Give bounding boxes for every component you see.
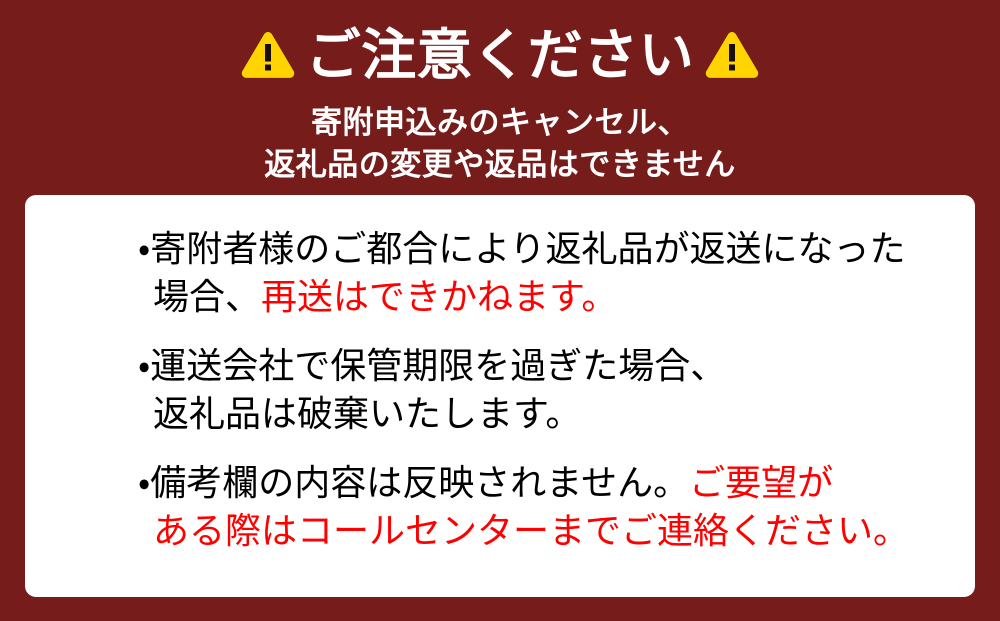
page-title: ご注意ください bbox=[306, 28, 695, 83]
notice-text-black: 運送会社で保管期限を過ぎた場合、 bbox=[150, 345, 726, 386]
list-item: ・寄附者様のご都合により返礼品が返送になった 場合、再送はできかねます。 bbox=[138, 225, 975, 320]
notice-line-secondary: 場合、再送はできかねます。 bbox=[138, 273, 975, 321]
headline-row: ご注意ください bbox=[0, 18, 1000, 92]
notice-text-black: 寄附者様のご都合により返礼品が返送になった bbox=[150, 228, 905, 269]
bullet-icon: ・ bbox=[138, 345, 150, 386]
notice-list: ・寄附者様のご都合により返礼品が返送になった 場合、再送はできかねます。 ・運送… bbox=[138, 225, 975, 554]
page-subtitle: 寄附申込みのキャンセル、 返礼品の変更や返品はできません bbox=[0, 102, 1000, 186]
notice-header: ご注意ください 寄附申込みのキャンセル、 返礼品の変更や返品はできません bbox=[0, 0, 1000, 186]
warning-triangle-icon bbox=[240, 30, 296, 80]
notice-text-black: 返礼品は破棄いたします。 bbox=[153, 393, 581, 434]
page-subtitle-line-2: 返礼品の変更や返品はできません bbox=[0, 144, 1000, 186]
notice-text-highlight: ある際はコールセンターまでご連絡ください。 bbox=[153, 510, 909, 551]
notice-text-black: 場合、 bbox=[153, 276, 261, 317]
notice-banner: ご注意ください 寄附申込みのキャンセル、 返礼品の変更や返品はできません ・寄附… bbox=[0, 0, 1000, 621]
list-item: ・運送会社で保管期限を過ぎた場合、 返礼品は破棄いたします。 bbox=[138, 342, 975, 437]
notice-line-primary: ・寄附者様のご都合により返礼品が返送になった bbox=[138, 225, 975, 273]
notice-card: ・寄附者様のご都合により返礼品が返送になった 場合、再送はできかねます。 ・運送… bbox=[25, 195, 975, 597]
notice-line-primary: ・運送会社で保管期限を過ぎた場合、 bbox=[138, 342, 975, 390]
notice-line-secondary: ある際はコールセンターまでご連絡ください。 bbox=[138, 507, 975, 555]
bullet-icon: ・ bbox=[138, 462, 150, 503]
notice-text-black: 備考欄の内容は反映されません。 bbox=[150, 462, 689, 503]
list-item: ・備考欄の内容は反映されません。ご要望が ある際はコールセンターまでご連絡くださ… bbox=[138, 459, 975, 554]
page-subtitle-line-1: 寄附申込みのキャンセル、 bbox=[0, 102, 1000, 144]
notice-text-highlight: 再送はできかねます。 bbox=[261, 276, 617, 317]
notice-line-secondary: 返礼品は破棄いたします。 bbox=[138, 390, 975, 438]
warning-triangle-icon bbox=[704, 30, 760, 80]
notice-text-highlight: ご要望が bbox=[689, 462, 833, 503]
notice-line-primary: ・備考欄の内容は反映されません。ご要望が bbox=[138, 459, 975, 507]
bullet-icon: ・ bbox=[138, 228, 150, 269]
